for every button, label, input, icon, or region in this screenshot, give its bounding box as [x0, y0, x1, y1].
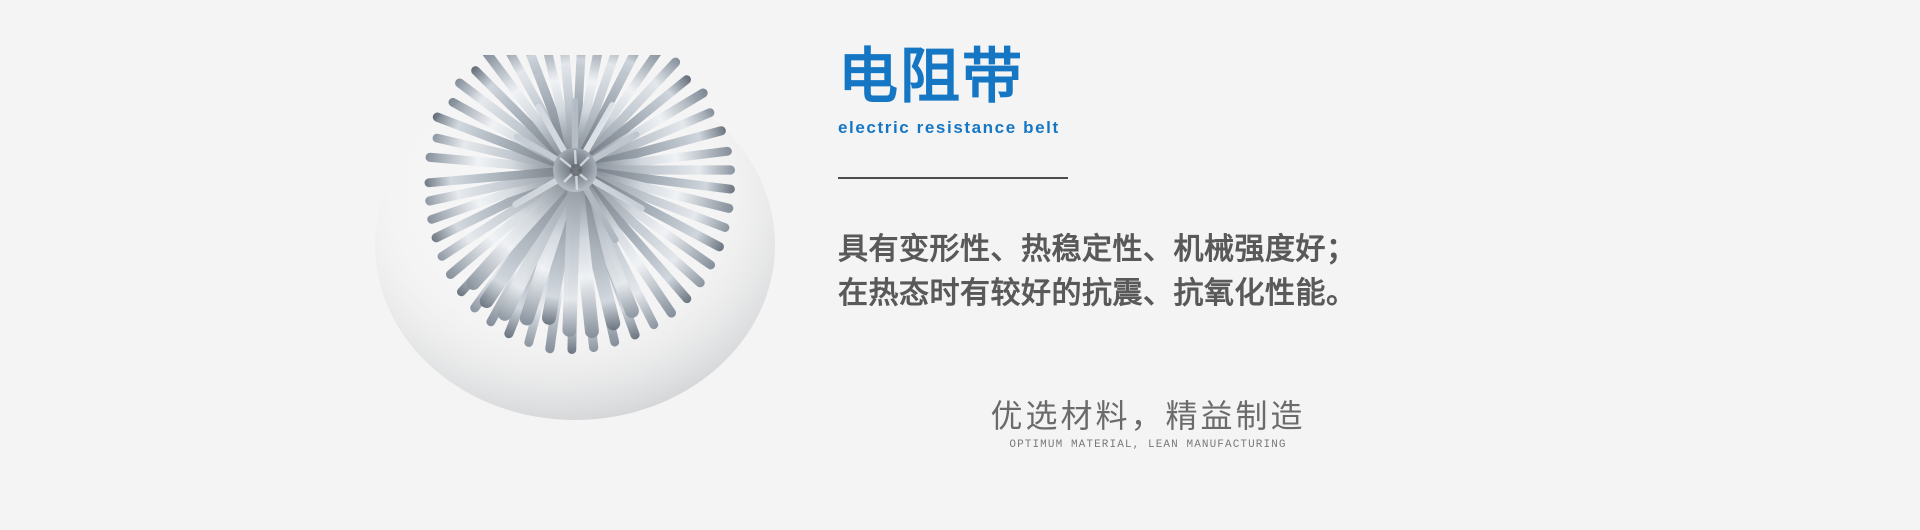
- product-banner: 电阻带 electric resistance belt 具有变形性、热稳定性、…: [0, 0, 1920, 530]
- product-description: 具有变形性、热稳定性、机械强度好； 在热态时有较好的抗震、抗氧化性能。: [838, 228, 1458, 316]
- page-title: 电阻带: [838, 46, 1060, 108]
- slogan-block: 优选材料，精益制造 OPTIMUM MATERIAL, LEAN MANUFAC…: [938, 396, 1358, 452]
- description-line-1: 具有变形性、热稳定性、机械强度好；: [838, 228, 1458, 272]
- product-image: [370, 55, 780, 435]
- slogan-cn: 优选材料，精益制造: [938, 396, 1358, 436]
- title-block: 电阻带 electric resistance belt: [838, 46, 1060, 138]
- page-subtitle: electric resistance belt: [838, 118, 1060, 138]
- slogan-en: OPTIMUM MATERIAL, LEAN MANUFACTURING: [938, 438, 1358, 452]
- description-line-2: 在热态时有较好的抗震、抗氧化性能。: [838, 272, 1458, 316]
- banner-content: 电阻带 electric resistance belt 具有变形性、热稳定性、…: [838, 0, 1858, 530]
- divider: [838, 177, 1068, 179]
